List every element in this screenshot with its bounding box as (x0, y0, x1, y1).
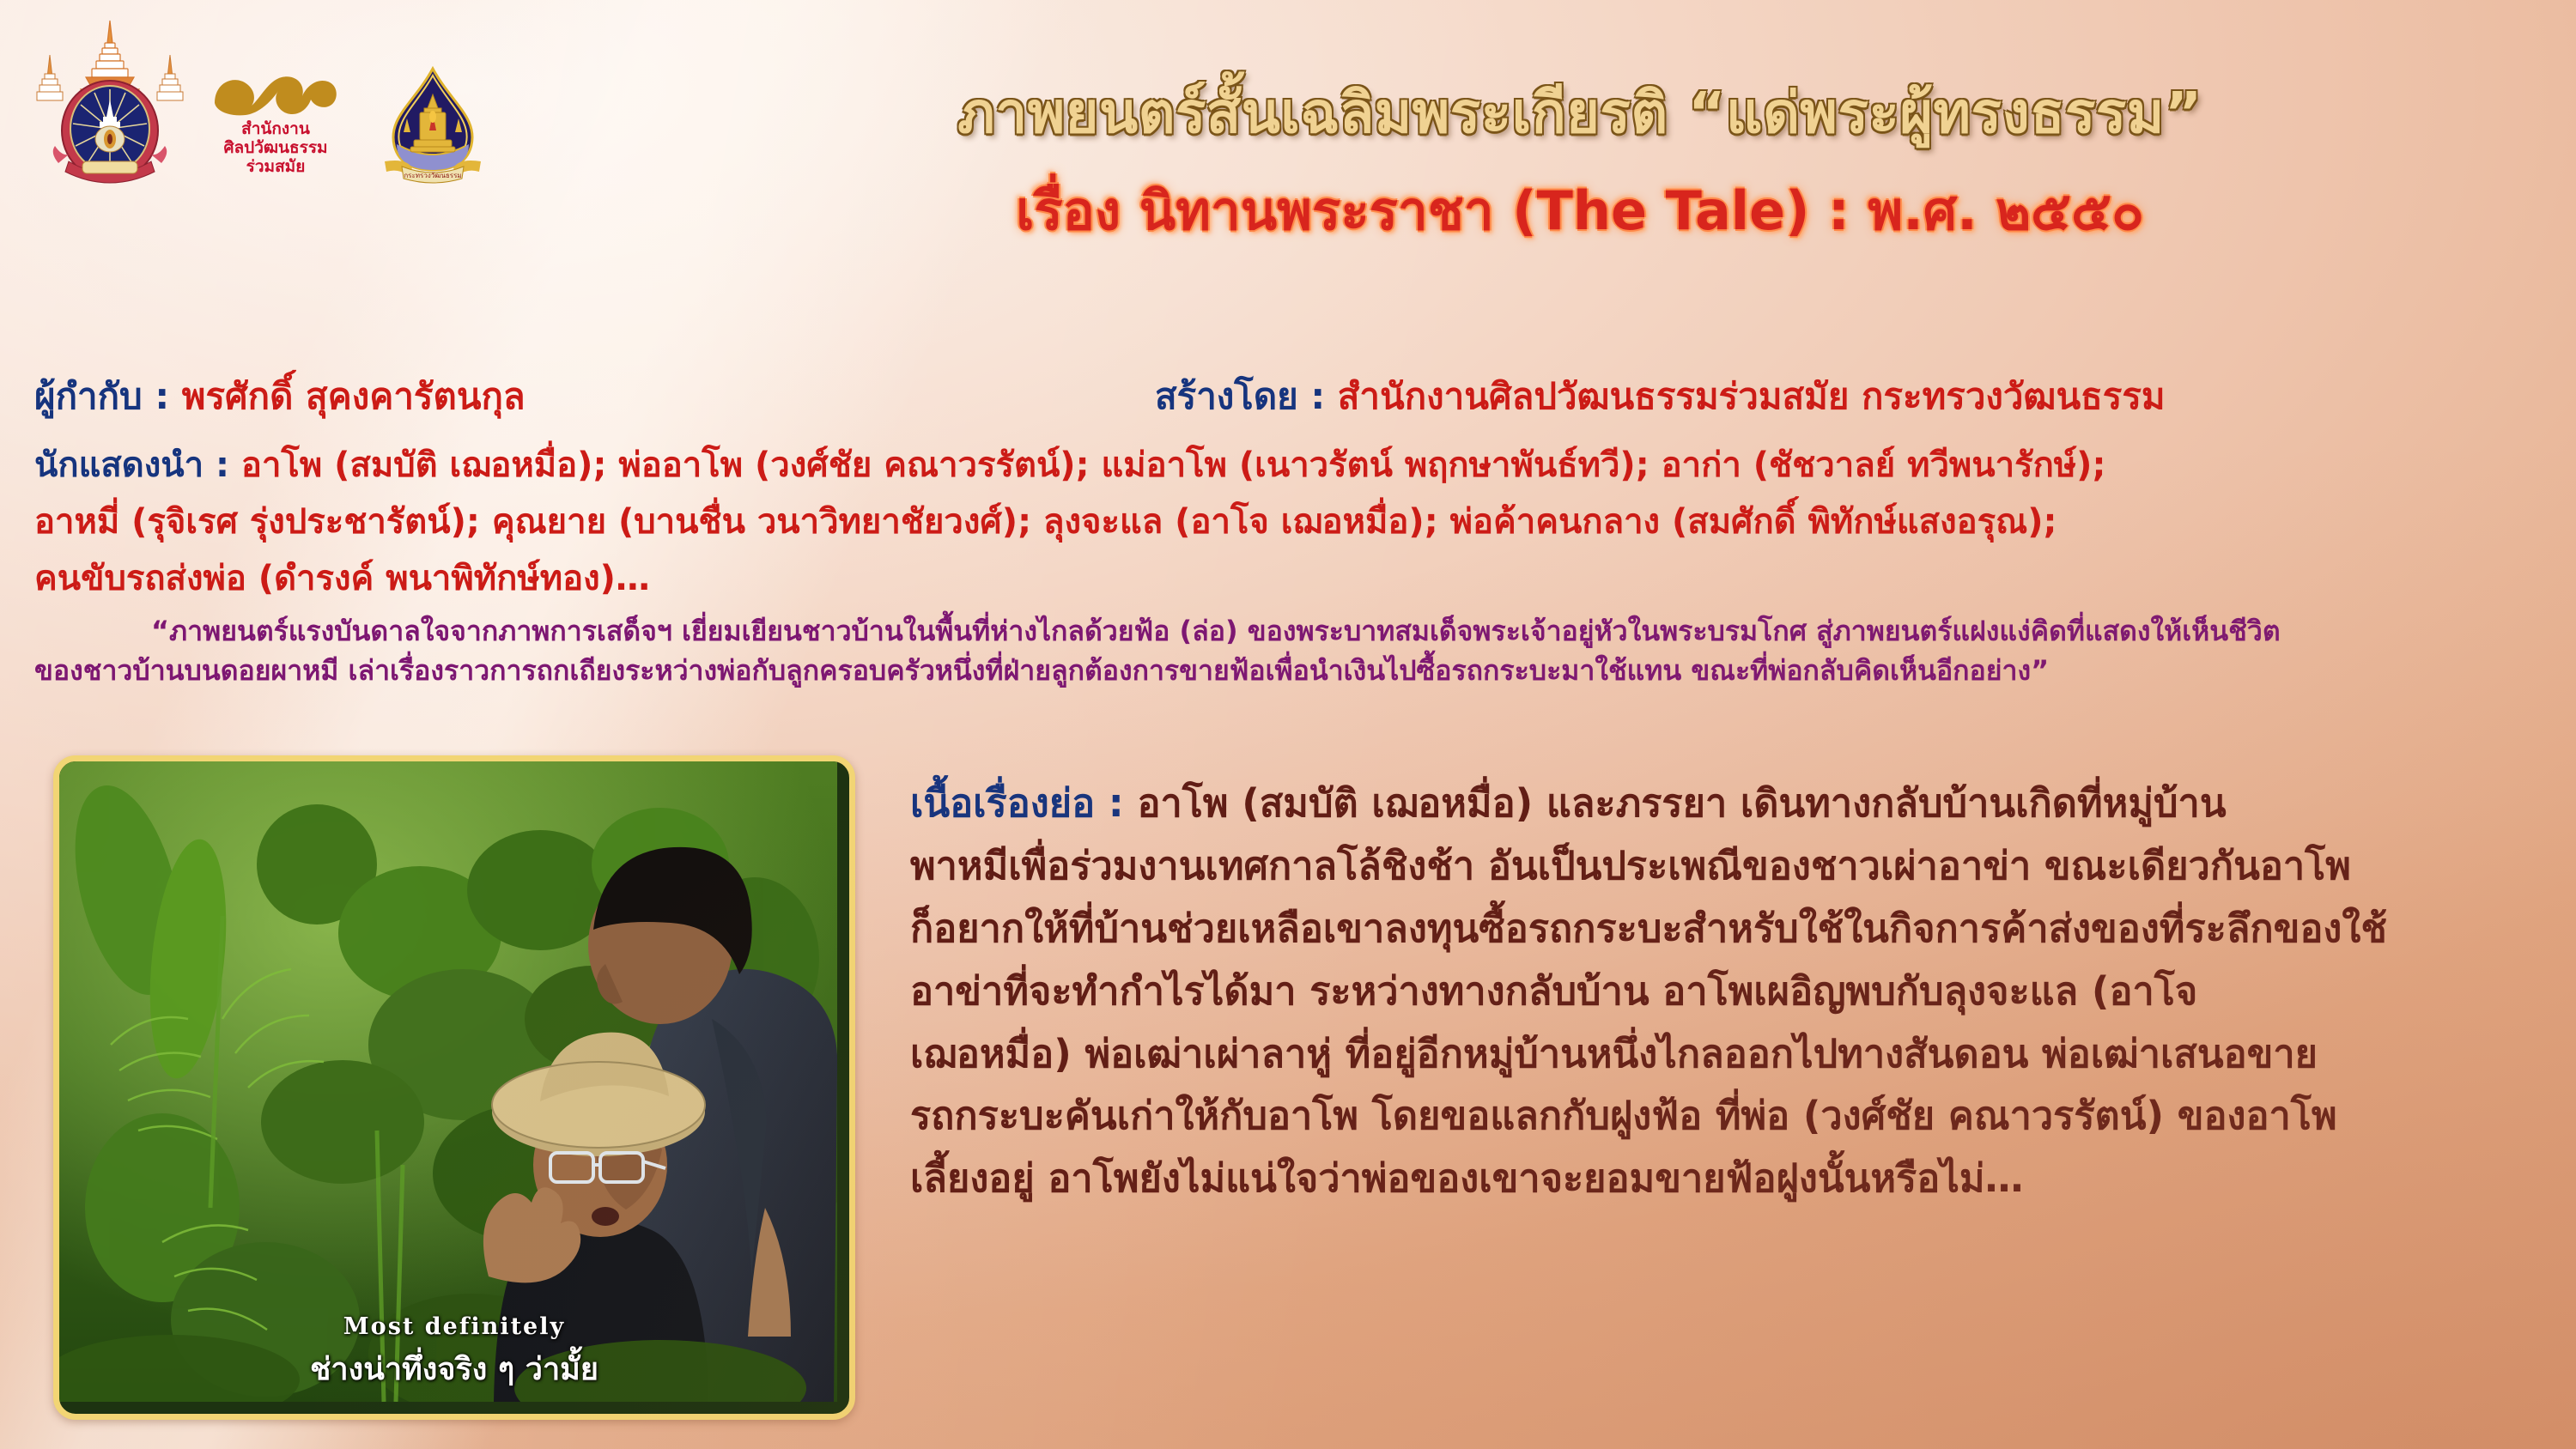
cast-line-2: อาหมี่ (รุจิเรศ รุ่งประชารัตน์); คุณยาย … (34, 501, 2057, 543)
producer-label: สร้างโดย : (1155, 375, 1338, 417)
synopsis-line-7: เลี้ยงอยู่ อาโพยังไม่แน่ใจว่าพ่อของเขาจะ… (910, 1148, 2550, 1210)
poster-title-line1: ภาพยนตร์สั้นเฉลิมพระเกียรติ “แด่พระผู้ทร… (601, 82, 2559, 143)
ocac-office-logo: สำนักงาน ศิลปวัฒนธรรม ร่วมสมัย (211, 58, 340, 179)
synopsis-line-2: พาหมีเพื่อร่วมงานเทศกาลโล้ชิงช้า อันเป็น… (910, 835, 2550, 898)
synopsis-line-5: เฌอหมื่อ) พ่อเฒ่าเผ่าลาหู่ ที่อยู่อีกหมู… (910, 1023, 2550, 1086)
ocac-caption-line3: ร่วมสมัย (246, 157, 306, 176)
ocac-caption-line2: ศิลปวัฒนธรรม (223, 138, 327, 157)
film-still-thumbnail[interactable]: Most definitely ช่างน่าทึ่งจริง ๆ ว่ามั้… (53, 755, 855, 1420)
synopsis-block: เนื้อเรื่องย่อ : อาโพ (สมบัติ เฌอหมื่อ) … (910, 773, 2550, 1210)
still-subtitle-english: Most definitely (59, 1313, 849, 1340)
inspiration-quote: “ภาพยนตร์แรงบันดาลใจจากภาพการเสด็จฯ เยี่… (34, 611, 2542, 690)
royal-emblem-logo (24, 17, 196, 189)
poster-title-line2: เรื่อง นิทานพระราชา (The Tale) : พ.ศ. ๒๕… (601, 182, 2559, 240)
director-credit: ผู้กำกับ : พรศักดิ์ สุคงคารัตนกุล (34, 374, 526, 418)
film-still-artwork (59, 761, 837, 1402)
quote-line-1: “ภาพยนตร์แรงบันดาลใจจากภาพการเสด็จฯ เยี่… (34, 611, 2542, 651)
poster-root: สำนักงาน ศิลปวัฒนธรรม ร่วมสมัย (0, 0, 2576, 1449)
synopsis-line-3: ก็อยากให้ที่บ้านช่วยเหลือเขาลงทุนซื้อรถก… (910, 898, 2550, 961)
synopsis-line-1: เนื้อเรื่องย่อ : อาโพ (สมบัติ เฌอหมื่อ) … (910, 773, 2550, 835)
synopsis-line-4: อาข่าที่จะทำกำไรได้มา ระหว่างทางกลับบ้าน… (910, 961, 2550, 1023)
logo-group: สำนักงาน ศิลปวัฒนธรรม ร่วมสมัย (24, 12, 642, 184)
synopsis-text-1: อาโพ (สมบัติ เฌอหมื่อ) และภรรยา เดินทางก… (1137, 780, 2226, 826)
ministry-ribbon-caption: กระทรวงวัฒนธรรม (404, 172, 461, 179)
producer-credit: สร้างโดย : สำนักงานศิลปวัฒนธรรมร่วมสมัย … (1155, 374, 2166, 418)
ocac-caption-line1: สำนักงาน (241, 119, 310, 138)
cast-value-1: อาโพ (สมบัติ เฌอหมื่อ); พ่ออาโพ (วงศ์ชัย… (241, 446, 2106, 485)
cast-line-3: คนขับรถส่งพ่อ (ดำรงค์ พนาพิทักษ์ทอง)… (34, 558, 650, 599)
quote-line-2: ของชาวบ้านบนดอยผาหมี เล่าเรื่องราวการถกเ… (34, 651, 2542, 690)
cast-label: นักแสดงนำ : (34, 446, 241, 485)
producer-value: สำนักงานศิลปวัฒนธรรมร่วมสมัย กระทรวงวัฒน… (1338, 375, 2166, 417)
still-subtitle-thai: ช่างน่าทึ่งจริง ๆ ว่ามั้ย (59, 1344, 849, 1393)
synopsis-label: เนื้อเรื่องย่อ : (910, 780, 1137, 826)
director-label: ผู้กำกับ : (34, 375, 182, 417)
ministry-of-culture-logo: กระทรวงวัฒนธรรม (373, 65, 493, 185)
synopsis-line-6: รถกระบะคันเก่าให้กับอาโพ โดยขอแลกกับฝูงฟ… (910, 1085, 2550, 1148)
director-value: พรศักดิ์ สุคงคารัตนกุล (182, 375, 526, 417)
cast-line-1: นักแสดงนำ : อาโพ (สมบัติ เฌอหมื่อ); พ่ออ… (34, 445, 2105, 486)
